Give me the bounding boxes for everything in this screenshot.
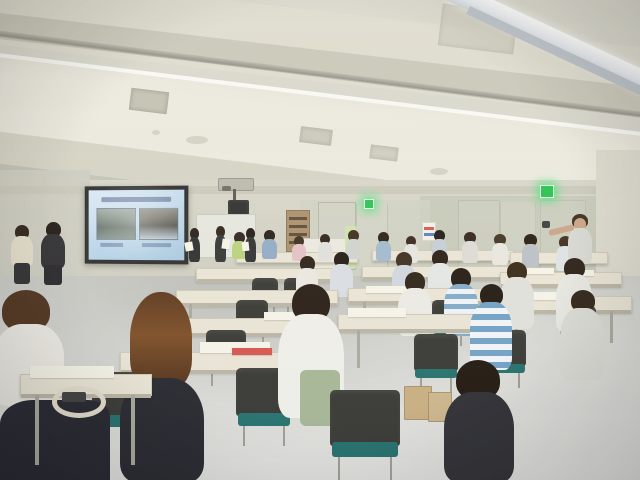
- photo-scene: [0, 0, 640, 480]
- staff-holding-papers-2: [214, 226, 227, 262]
- handout-papers: [232, 348, 272, 355]
- slide-left-caption: [100, 243, 123, 247]
- ceiling-vent: [129, 88, 169, 114]
- handout-papers: [30, 366, 114, 378]
- slide-right-image: [139, 208, 179, 240]
- exit-sign-center: [364, 199, 374, 209]
- audience-person: [262, 230, 277, 258]
- projector-lens: [222, 186, 231, 191]
- exit-sign-right: [540, 185, 554, 198]
- audience-person: [376, 232, 391, 260]
- handbag: [52, 386, 106, 418]
- ceiling: [0, 0, 640, 190]
- projection-screen: [85, 186, 189, 265]
- presenter-pointer: [542, 221, 550, 228]
- projection-screen-surface: [89, 190, 185, 261]
- staff-dark-jacket: [40, 222, 66, 284]
- handout-papers: [348, 308, 406, 317]
- audience-person: [492, 234, 508, 264]
- chair: [330, 390, 400, 480]
- staff-holding-papers-1: [188, 228, 201, 262]
- ceiling-fitting: [186, 136, 208, 144]
- ceiling-fitting: [430, 168, 448, 175]
- audience-person: [560, 290, 604, 378]
- handbag-body: [62, 392, 86, 402]
- slide-left-image: [96, 208, 136, 239]
- staff-holding-papers-3: [244, 228, 257, 262]
- ceiling-fitting: [152, 130, 160, 135]
- audience-person-striped: [470, 284, 512, 368]
- staff-light-jacket: [10, 225, 34, 283]
- slide-title: [102, 197, 171, 202]
- audience-person: [462, 232, 478, 262]
- slide-right-caption: [142, 243, 171, 247]
- audience-person-foreground: [444, 360, 514, 480]
